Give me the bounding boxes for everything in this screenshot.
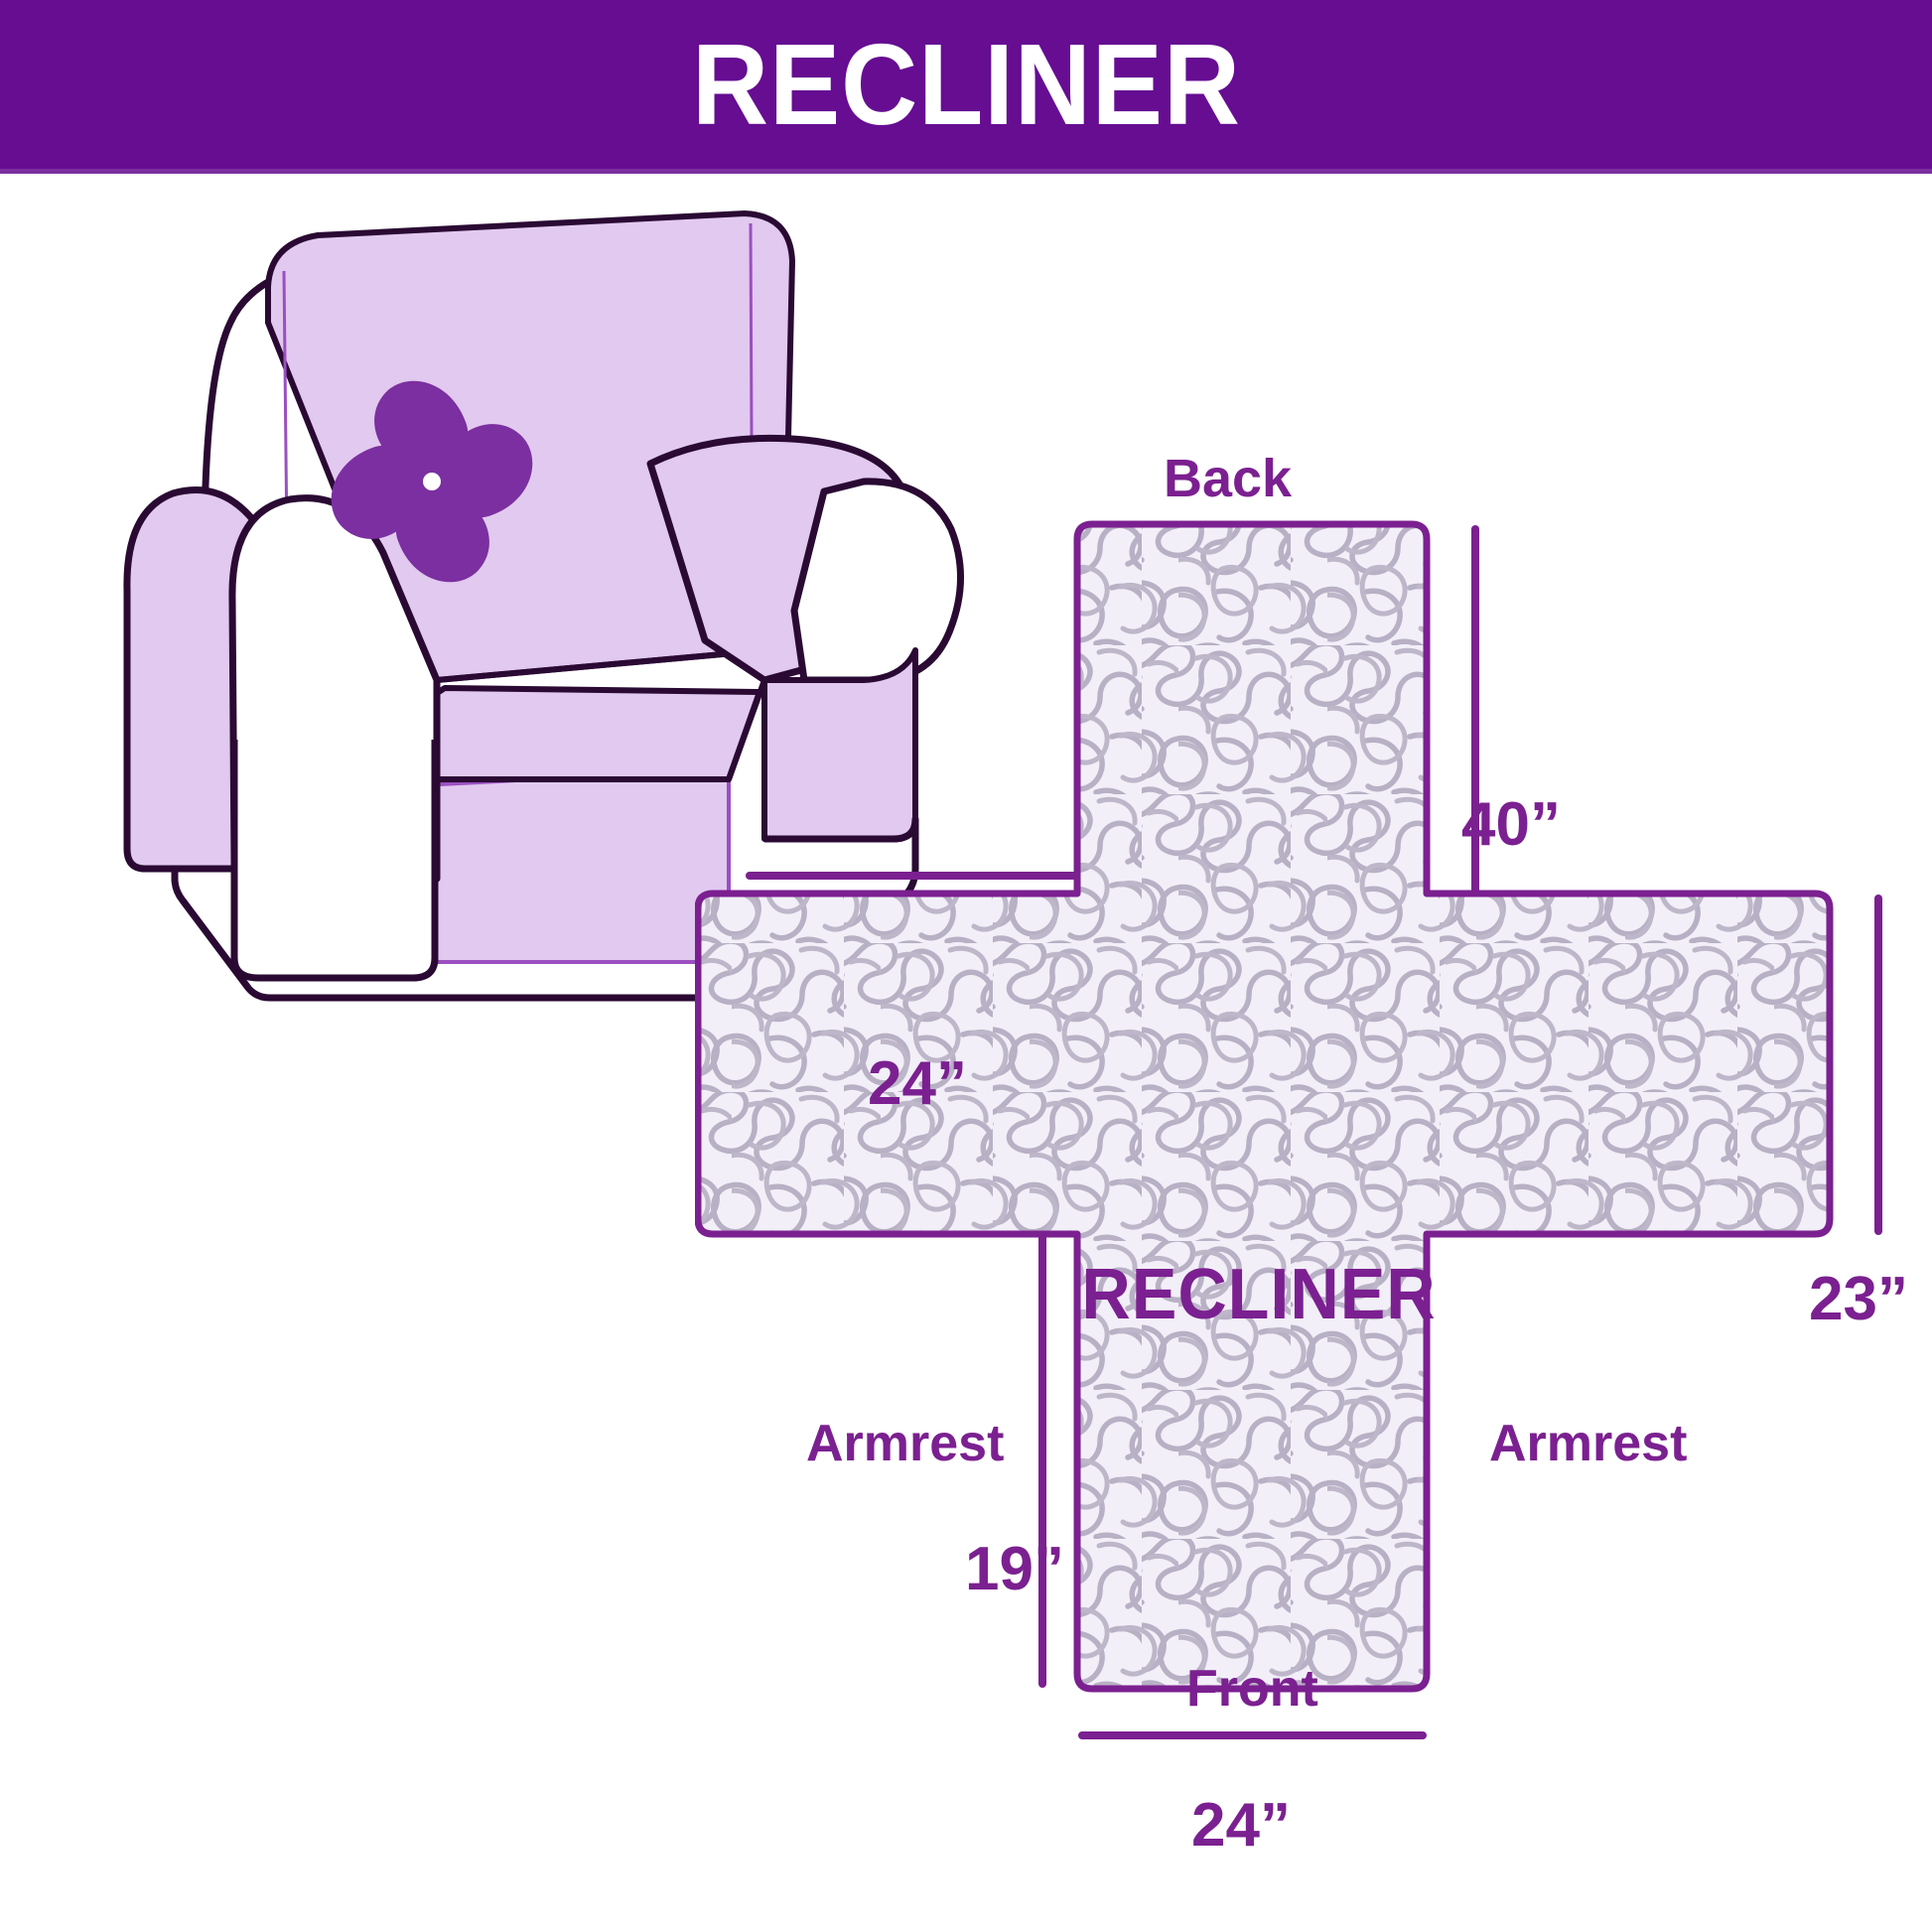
product-dimension-infographic: RECLINER bbox=[0, 0, 1932, 1932]
page-title: RECLINER bbox=[692, 27, 1241, 142]
header-banner: RECLINER bbox=[0, 0, 1932, 169]
header-divider bbox=[0, 169, 1932, 174]
slipcover-cross-pattern bbox=[695, 496, 1932, 1932]
quilted-fabric-fill bbox=[695, 496, 1932, 1932]
